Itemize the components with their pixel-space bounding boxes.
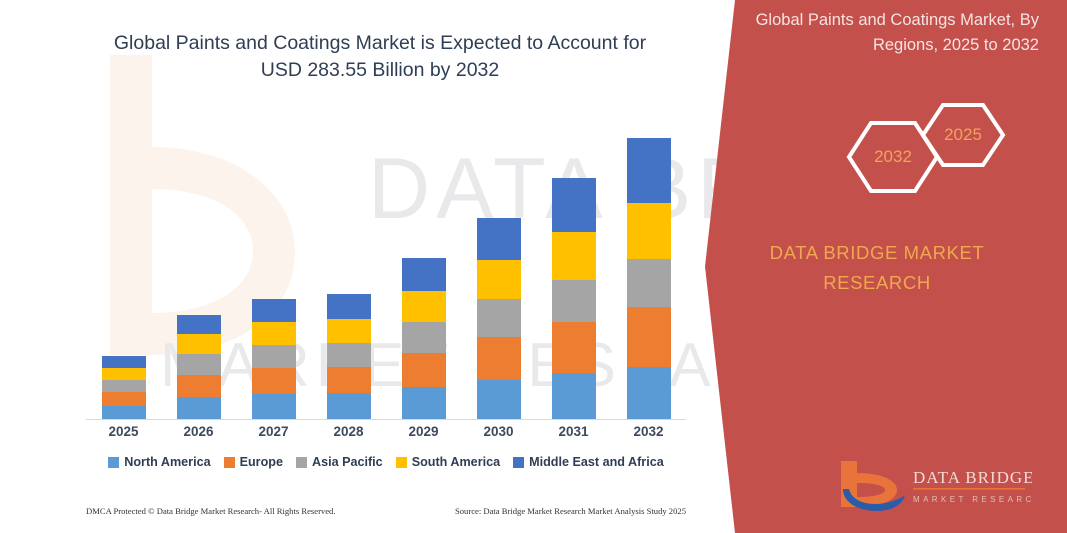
stacked-bar [327,294,371,419]
bar-segment-asia-pacific [252,345,296,368]
legend-label: Europe [240,455,283,469]
x-axis-label-2031: 2031 [539,424,609,446]
x-axis-label-2029: 2029 [389,424,459,446]
bar-segment-asia-pacific [402,322,446,353]
legend-label: North America [124,455,210,469]
legend-swatch-icon [108,457,119,468]
bar-segment-north-america [402,387,446,419]
bar-column-2031 [539,124,609,419]
bar-segment-south-america [102,368,146,380]
bar-segment-middle-east-and-africa [252,299,296,322]
bar-segment-north-america [627,367,671,419]
bar-segment-asia-pacific [552,280,596,322]
infographic-root: DATA BRIDGE MARKET RESEARCH Global Paint… [0,0,1067,533]
bar-segment-north-america [252,394,296,419]
bar-column-2025 [89,124,159,419]
bar-column-2030 [464,124,534,419]
panel-title: Global Paints and Coatings Market, By Re… [719,8,1039,58]
bar-segment-south-america [177,334,221,354]
legend-swatch-icon [224,457,235,468]
bar-segment-south-america [402,291,446,322]
x-axis-label-2025: 2025 [89,424,159,446]
logo-subtitle: MARKET RESEARCH [913,495,1032,504]
bar-column-2027 [239,124,309,419]
bar-segment-north-america [477,380,521,419]
logo-title: DATA BRIDGE [913,468,1032,487]
legend-label: Asia Pacific [312,455,383,469]
panel-title-line-1: Global Paints and Coatings Market, By [756,11,1039,29]
bar-segment-europe [327,367,371,393]
bar-segment-middle-east-and-africa [327,294,371,319]
page-title-line-2: USD 283.55 Billion by 2032 [261,59,500,81]
page-title-line-1: Global Paints and Coatings Market is Exp… [114,32,646,54]
legend-label: South America [412,455,500,469]
chart-bars [86,124,686,419]
footer: DMCA Protected © Data Bridge Market Rese… [86,506,686,516]
x-axis-label-2027: 2027 [239,424,309,446]
page-title: Global Paints and Coatings Market is Exp… [90,30,670,84]
legend-label: Middle East and Africa [529,455,664,469]
hexagon-2025-label: 2025 [941,125,985,145]
bar-segment-asia-pacific [327,343,371,367]
bar-segment-north-america [327,393,371,419]
legend-item-north-america[interactable]: North America [108,455,210,469]
legend-item-south-america[interactable]: South America [396,455,500,469]
footer-source: Source: Data Bridge Market Research Mark… [455,506,686,516]
bar-column-2028 [314,124,384,419]
dbmr-logo: DATA BRIDGE MARKET RESEARCH [837,459,1032,511]
stacked-bar [552,178,596,419]
stacked-bar-chart [86,120,686,420]
bar-column-2029 [389,124,459,419]
bar-segment-south-america [552,232,596,280]
bar-segment-middle-east-and-africa [402,258,446,291]
bar-segment-north-america [177,397,221,419]
legend-swatch-icon [296,457,307,468]
bar-segment-south-america [627,203,671,259]
legend-swatch-icon [513,457,524,468]
bar-segment-middle-east-and-africa [552,178,596,232]
hexagon-2032-label: 2032 [871,147,915,167]
bar-segment-asia-pacific [177,354,221,375]
brand-name: DATA BRIDGE MARKET RESEARCH [717,238,1037,298]
bar-column-2032 [614,124,684,419]
bar-segment-europe [402,353,446,387]
bar-segment-europe [177,375,221,397]
hexagon-badges: 2032 2025 [827,95,1027,215]
legend-item-europe[interactable]: Europe [224,455,283,469]
bar-column-2026 [164,124,234,419]
x-axis-label-2026: 2026 [164,424,234,446]
x-axis-label-2032: 2032 [614,424,684,446]
footer-copyright: DMCA Protected © Data Bridge Market Rese… [86,506,336,516]
x-axis-labels: 20252026202720282029203020312032 [86,424,686,446]
x-axis-line [86,419,686,420]
legend-item-middle-east-and-africa[interactable]: Middle East and Africa [513,455,664,469]
stacked-bar [102,356,146,419]
bar-segment-south-america [252,322,296,345]
brand-line-2: RESEARCH [823,272,931,293]
x-axis-label-2030: 2030 [464,424,534,446]
brand-line-1: DATA BRIDGE MARKET [770,242,985,263]
logo-b-icon [841,461,905,511]
stacked-bar [252,299,296,419]
bar-segment-europe [102,392,146,406]
bar-segment-north-america [102,406,146,419]
bar-segment-asia-pacific [627,259,671,307]
bar-segment-asia-pacific [102,380,146,392]
bar-segment-europe [252,368,296,394]
bar-segment-south-america [477,260,521,299]
bar-segment-middle-east-and-africa [177,315,221,334]
bar-segment-middle-east-and-africa [627,138,671,203]
stacked-bar [177,315,221,419]
bar-segment-europe [477,337,521,380]
panel-title-line-2: Regions, 2025 to 2032 [873,36,1039,54]
bar-segment-middle-east-and-africa [477,218,521,260]
bar-segment-middle-east-and-africa [102,356,146,368]
stacked-bar [477,218,521,419]
stacked-bar [402,258,446,419]
legend-swatch-icon [396,457,407,468]
bar-segment-north-america [552,373,596,419]
bar-segment-asia-pacific [477,299,521,337]
bar-segment-south-america [327,319,371,343]
x-axis-label-2028: 2028 [314,424,384,446]
bar-segment-europe [552,322,596,373]
bar-segment-europe [627,307,671,367]
chart-legend: North AmericaEuropeAsia PacificSouth Ame… [86,455,686,469]
stacked-bar [627,138,671,419]
legend-item-asia-pacific[interactable]: Asia Pacific [296,455,383,469]
